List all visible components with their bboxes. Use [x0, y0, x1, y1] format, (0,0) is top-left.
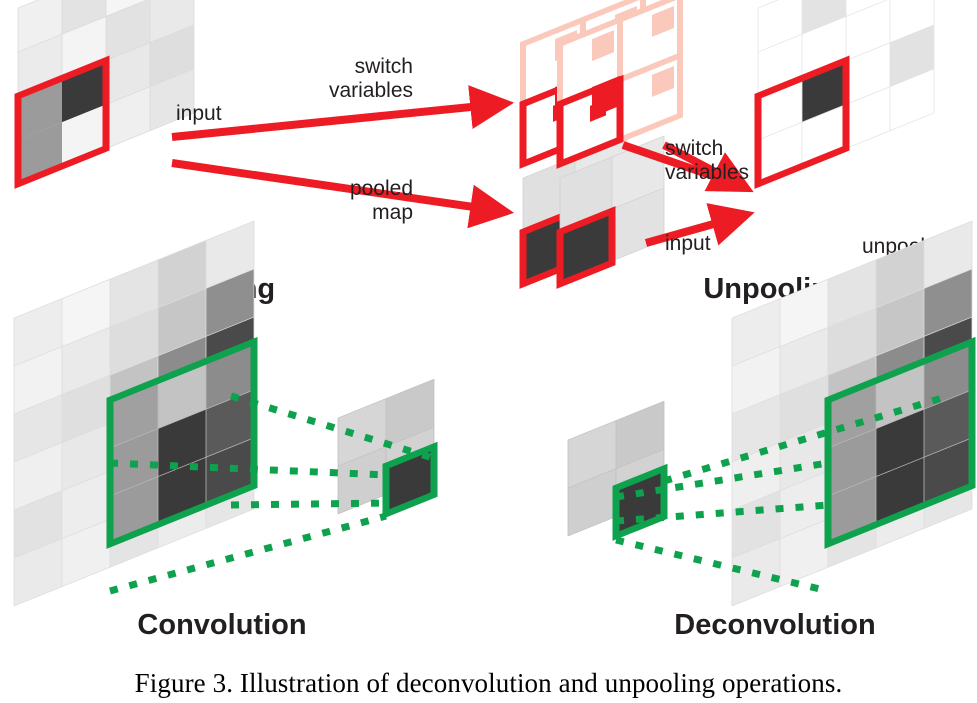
figure-caption: Figure 3. Illustration of deconvolution …	[0, 668, 977, 699]
pooling-arrow-pooled	[172, 163, 501, 211]
pooling-label-switch-line1: switch	[355, 55, 413, 78]
pooling-label-input: input	[176, 102, 222, 125]
unpooling-label-switch-line1: switch	[665, 137, 723, 160]
panel-pooling: input switch variables pooled map Poolin…	[18, 0, 643, 305]
panel-convolution: Convolution	[14, 221, 436, 641]
panel-title-deconvolution: Deconvolution	[674, 609, 875, 641]
panel-title-convolution: Convolution	[137, 609, 306, 641]
figure-container: input switch variables pooled map Poolin…	[0, 0, 977, 703]
pooling-label-output-line1: pooled	[350, 177, 413, 200]
unpooling-label-switch-line2: variables	[665, 161, 749, 184]
pooling-label-switch-line2: variables	[329, 79, 413, 102]
pooling-label-output-line2: map	[372, 201, 413, 224]
figure-svg: input switch variables pooled map Poolin…	[0, 0, 977, 660]
unpooling-label-input: input	[665, 232, 711, 255]
